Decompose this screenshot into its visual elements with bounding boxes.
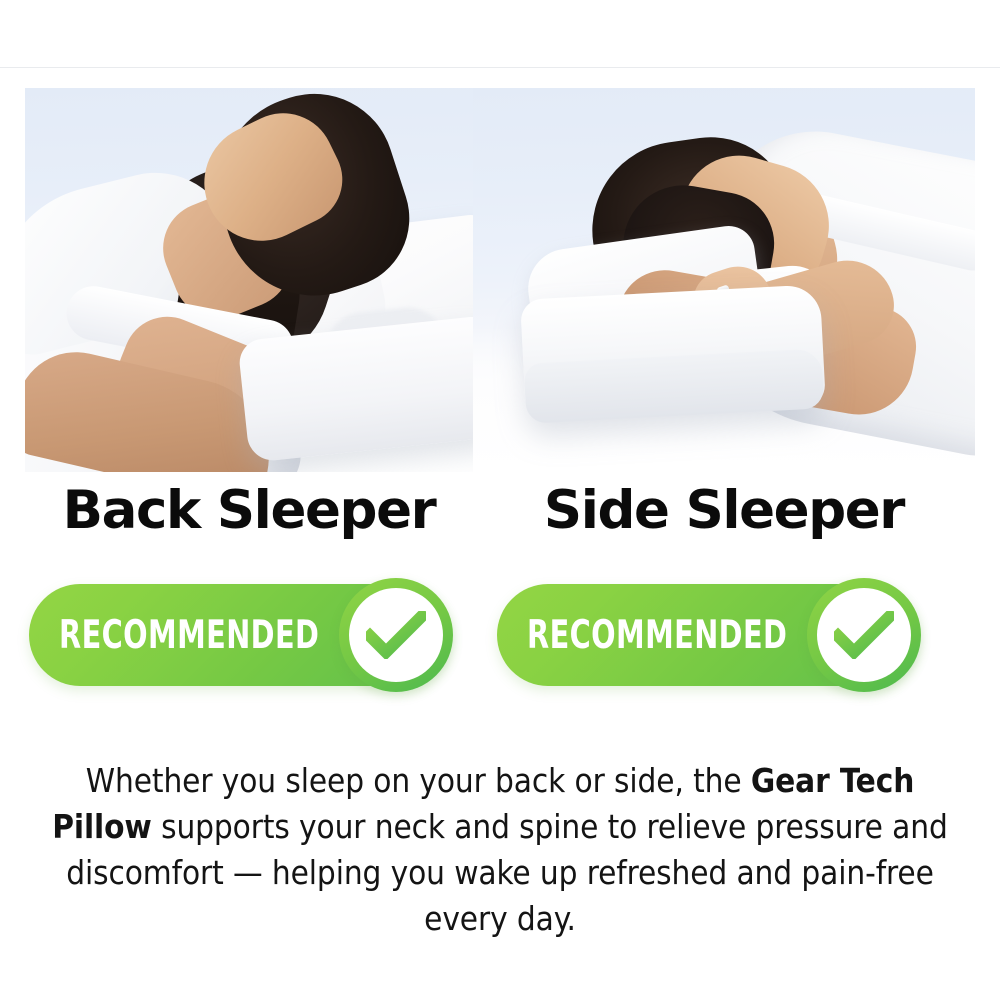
badge-cell-side-sleeper: RECOMMENDED xyxy=(473,578,975,696)
recommended-label: RECOMMENDED xyxy=(59,613,319,658)
side-sleeper-heading: Side Sleeper xyxy=(473,480,975,542)
description-paragraph: Whether you sleep on your back or side, … xyxy=(50,758,950,942)
back-sleeper-recommended-badge: RECOMMENDED xyxy=(29,581,451,689)
check-badge-face xyxy=(349,588,443,682)
heading-cell-side-sleeper: Side Sleeper xyxy=(473,480,975,552)
product-feature-panel: Back Sleeper Side Sleeper RECOMMENDED xyxy=(0,0,1000,1000)
description-prefix: Whether you sleep on your back or side, … xyxy=(86,761,751,800)
top-divider xyxy=(0,67,1000,68)
recommended-badges-row: RECOMMENDED xyxy=(25,578,975,696)
column-headings: Back Sleeper Side Sleeper xyxy=(25,480,975,552)
description-suffix: supports your neck and spine to relieve … xyxy=(66,807,948,938)
back-sleeper-photo xyxy=(25,88,473,472)
check-icon xyxy=(834,611,894,659)
side-sleeper-recommended-badge: RECOMMENDED xyxy=(497,581,919,689)
check-icon xyxy=(366,611,426,659)
check-badge-face xyxy=(817,588,911,682)
badge-cell-back-sleeper: RECOMMENDED xyxy=(25,578,473,696)
heading-cell-back-sleeper: Back Sleeper xyxy=(25,480,473,552)
pillow-front-face xyxy=(237,315,473,463)
side-sleeper-photo xyxy=(473,88,975,472)
sleeper-photo-strip xyxy=(25,88,975,472)
check-badge-ring xyxy=(807,578,921,692)
recommended-label: RECOMMENDED xyxy=(527,613,787,658)
back-sleeper-heading: Back Sleeper xyxy=(25,480,473,542)
check-badge-ring xyxy=(339,578,453,692)
